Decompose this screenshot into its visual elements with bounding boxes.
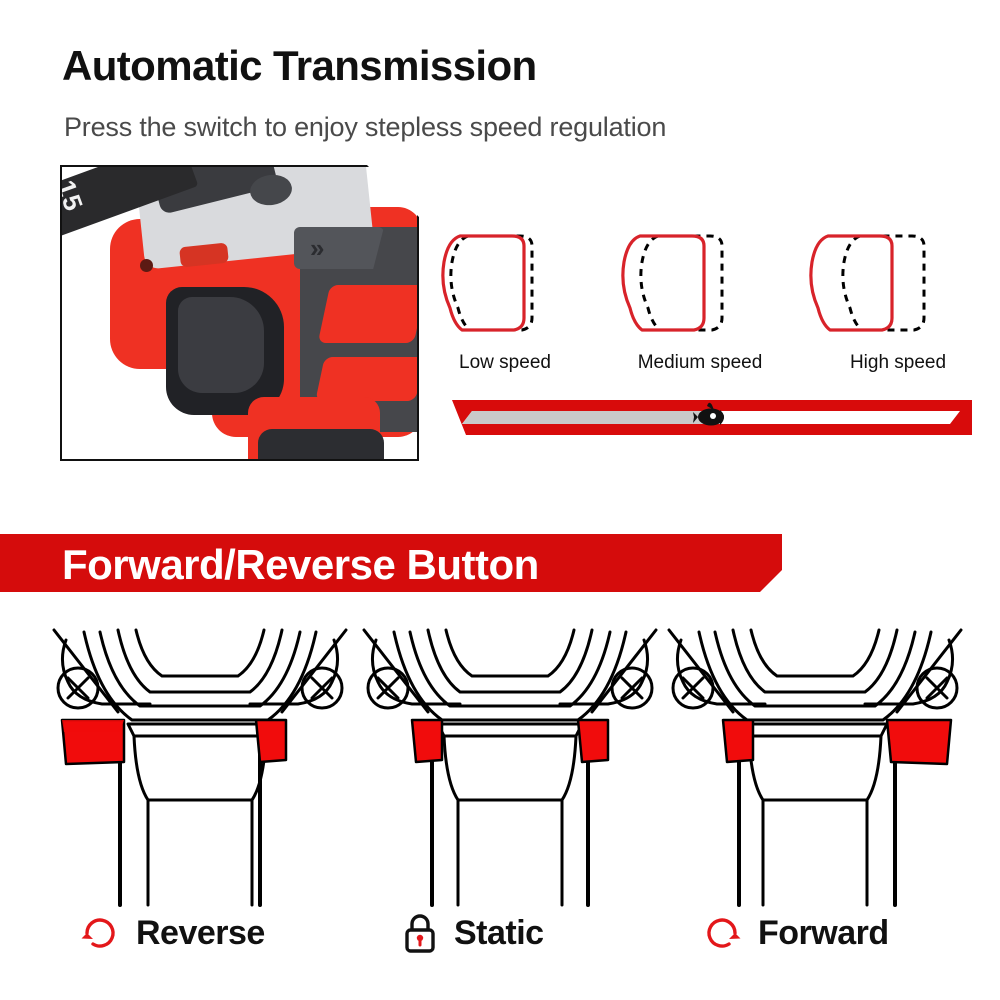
switch-label-reverse-text: Reverse bbox=[136, 914, 265, 953]
trigger-diagram-high bbox=[804, 222, 954, 347]
trigger-diagram-row bbox=[436, 222, 976, 352]
page-subtitle: Press the switch to enjoy stepless speed… bbox=[64, 112, 666, 143]
rocket-marker-icon[interactable] bbox=[692, 398, 730, 434]
drill-red-stripe bbox=[318, 285, 419, 343]
switch-label-static: Static bbox=[400, 898, 544, 968]
switch-label-static-text: Static bbox=[454, 914, 544, 953]
trigger-diagram-low bbox=[436, 222, 586, 347]
trigger-medium-speed-icon bbox=[616, 222, 766, 347]
trigger-label-medium: Medium speed bbox=[600, 352, 800, 374]
switch-label-row: Reverse Static Forward bbox=[0, 898, 1000, 978]
lock-icon bbox=[400, 911, 440, 955]
switch-diagram-row bbox=[0, 600, 1000, 920]
switch-diagram-forward bbox=[655, 600, 975, 910]
switch-label-forward: Forward bbox=[700, 898, 889, 968]
switch-tab-right bbox=[887, 720, 951, 764]
drill-trigger-highlight bbox=[178, 297, 264, 393]
trigger-diagram-medium bbox=[616, 222, 766, 347]
switch-tab-right bbox=[578, 720, 608, 762]
speed-select-button bbox=[294, 227, 384, 269]
switch-forward-icon bbox=[655, 600, 975, 910]
switch-label-reverse: Reverse bbox=[78, 898, 265, 968]
torque-marking-label: 15 bbox=[60, 176, 89, 216]
rotate-clockwise-icon bbox=[700, 911, 744, 955]
speed-slider-fill bbox=[462, 411, 706, 424]
switch-diagram-static bbox=[350, 600, 670, 910]
drill-grip-pad bbox=[258, 429, 384, 461]
drill-vent-hole bbox=[140, 259, 153, 272]
trigger-high-speed-icon bbox=[804, 222, 954, 347]
rotate-counterclockwise-icon bbox=[78, 911, 122, 955]
trigger-label-low: Low speed bbox=[430, 352, 580, 374]
trigger-label-row: Low speed Medium speed High speed bbox=[430, 352, 990, 382]
page-title: Automatic Transmission bbox=[62, 44, 537, 88]
switch-diagram-reverse bbox=[40, 600, 360, 910]
trigger-low-speed-icon bbox=[436, 222, 586, 347]
drill-red-stripe-lower bbox=[315, 357, 419, 401]
trigger-label-high: High speed bbox=[808, 352, 988, 374]
switch-tab-left bbox=[723, 720, 753, 762]
banner-title: Forward/Reverse Button bbox=[62, 540, 539, 590]
infographic-page: Automatic Transmission Press the switch … bbox=[0, 0, 1000, 1000]
switch-tab-right bbox=[256, 720, 286, 762]
switch-tab-left bbox=[412, 720, 442, 762]
switch-label-forward-text: Forward bbox=[758, 914, 889, 953]
product-photo: 15 » bbox=[60, 165, 419, 461]
switch-static-icon bbox=[350, 600, 670, 910]
double-chevron-icon: » bbox=[310, 233, 320, 263]
switch-reverse-icon bbox=[40, 600, 360, 910]
